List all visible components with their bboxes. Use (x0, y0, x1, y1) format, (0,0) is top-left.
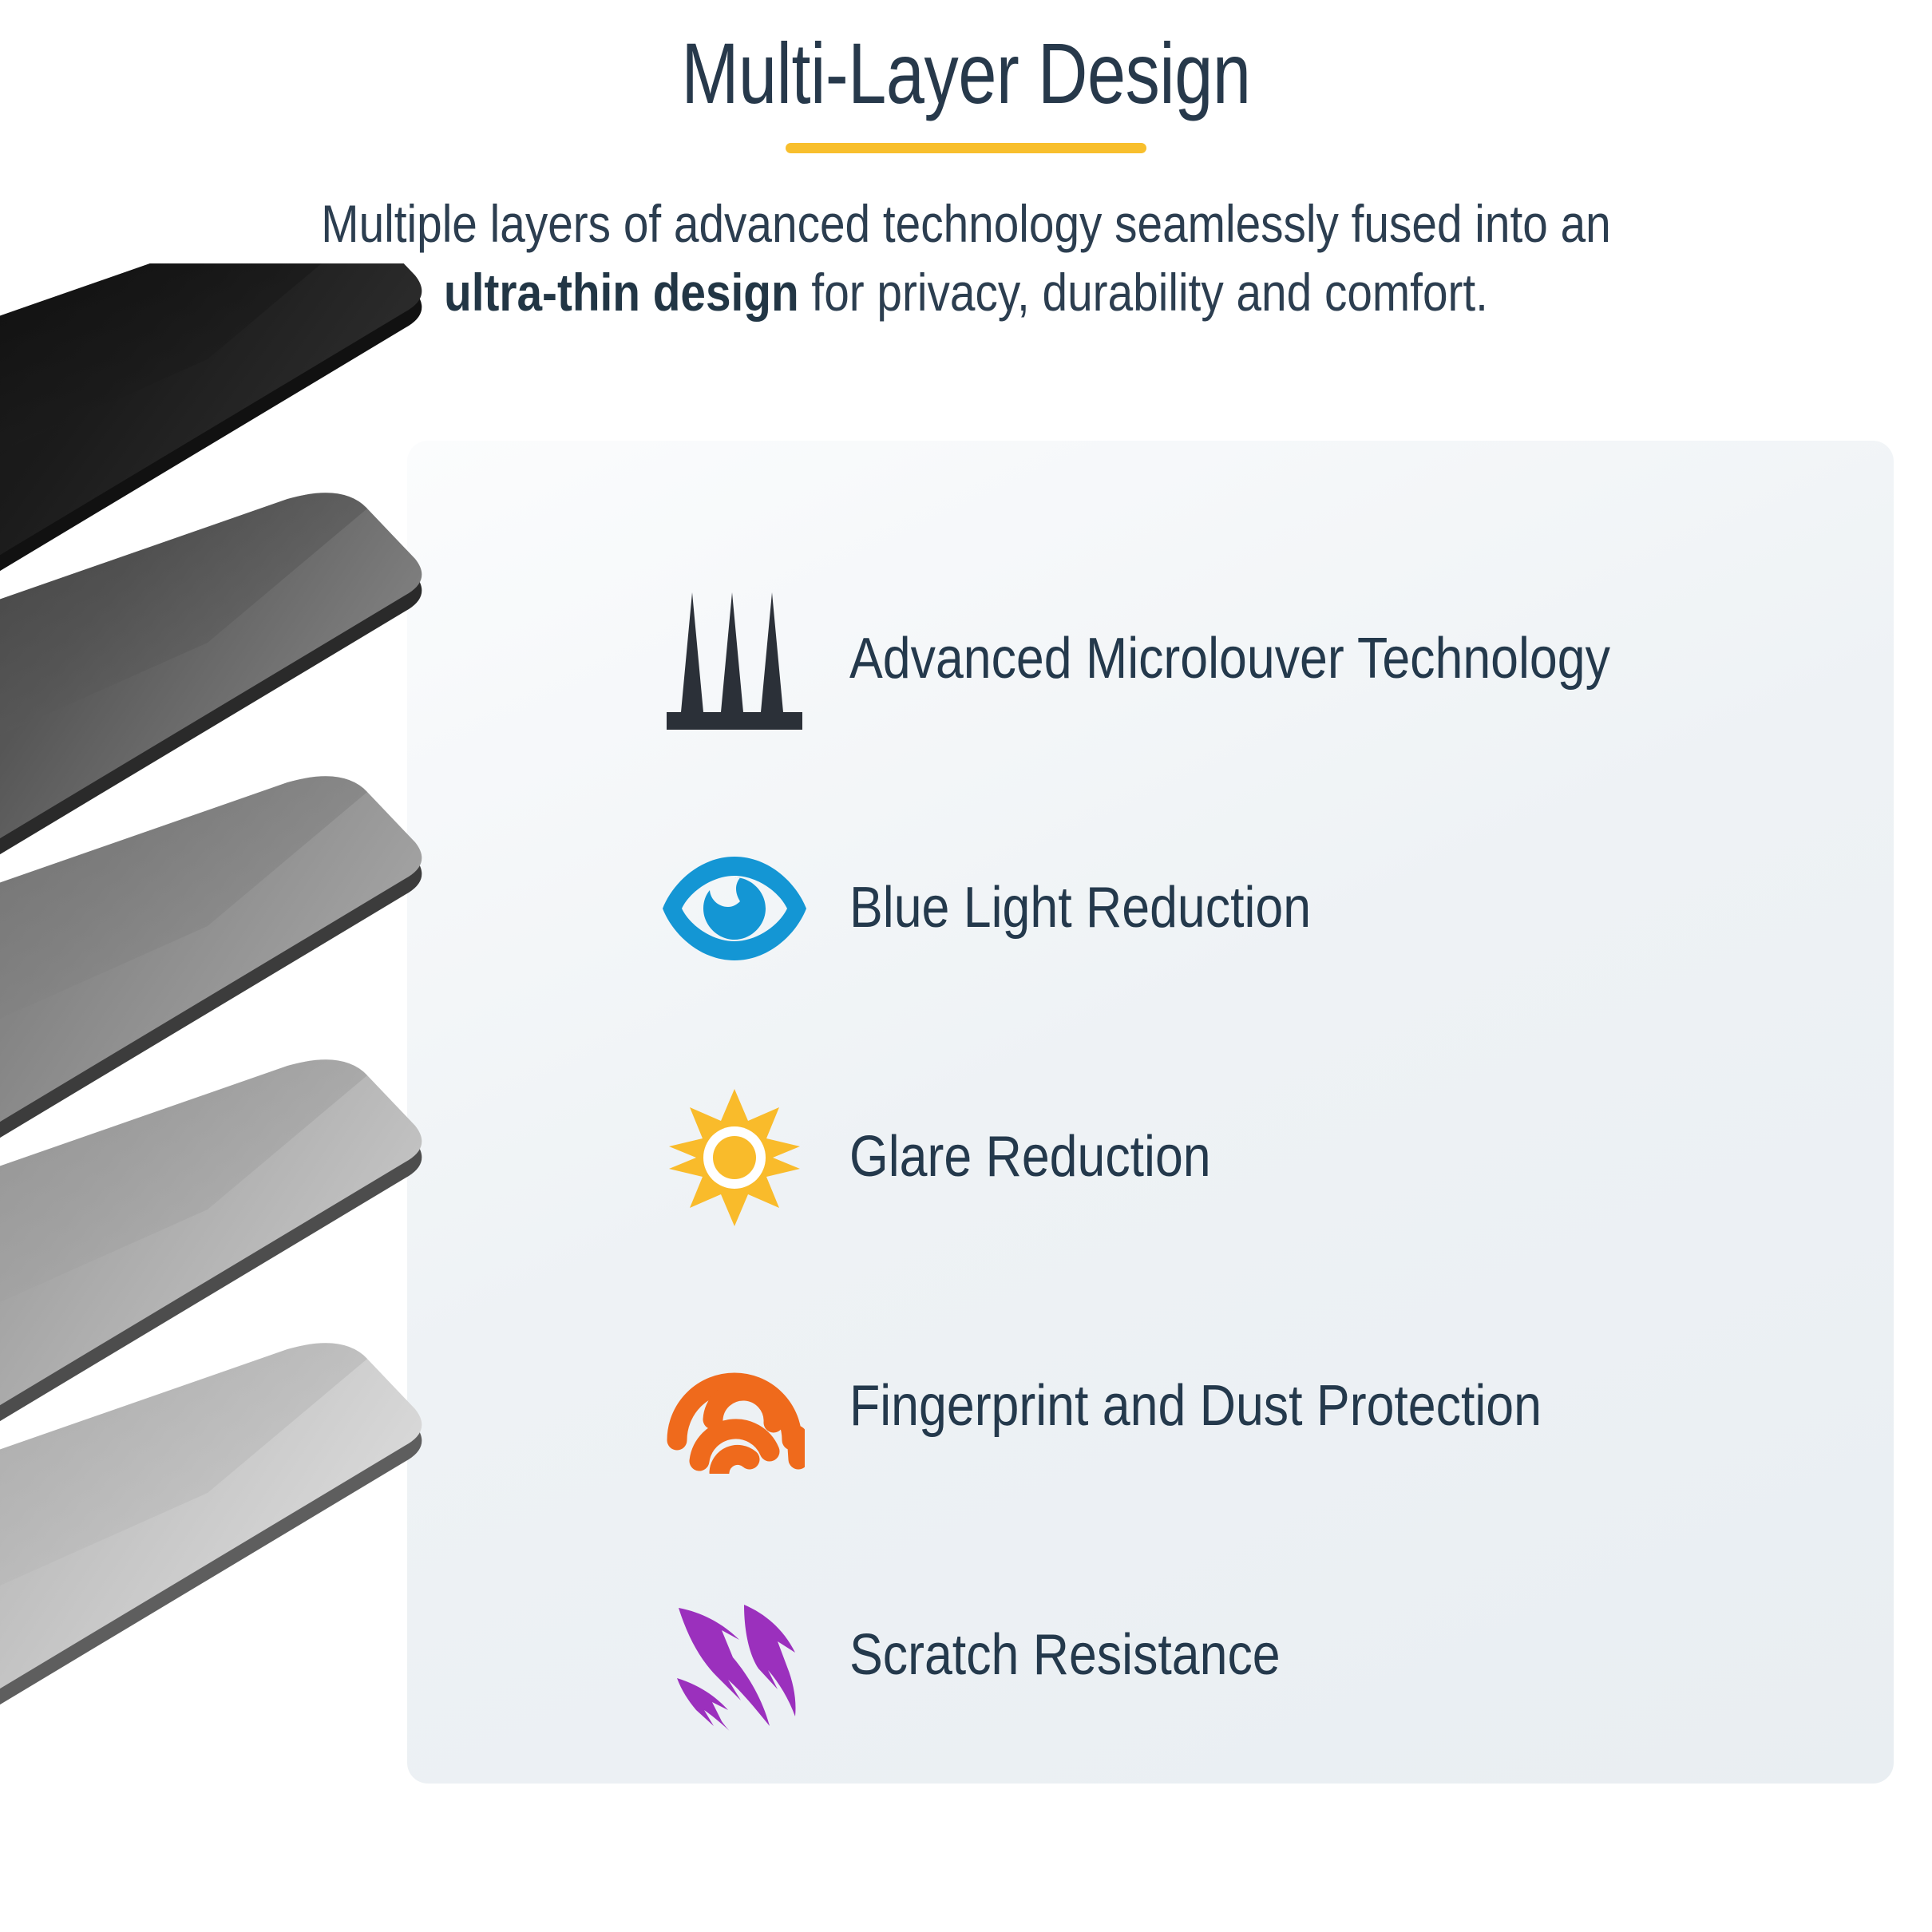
microlouver-icon (655, 580, 814, 739)
feature-label-fingerprint: Fingerprint and Dust Protection (849, 1375, 1542, 1438)
fingerprint-icon (655, 1327, 814, 1487)
feature-row-blue-light: Blue Light Reduction (655, 784, 1900, 1033)
feature-row-scratch: Scratch Resistance (655, 1531, 1900, 1780)
infographic-canvas: Multi-Layer Design Multiple layers of ad… (0, 0, 1932, 1932)
sun-icon (655, 1078, 814, 1237)
feature-label-blue-light: Blue Light Reduction (849, 877, 1311, 940)
page-title: Multi-Layer Design (193, 0, 1739, 124)
feature-row-microlouver: Advanced Microlouver Technology (655, 535, 1900, 784)
multi-layer-sheet-stack-graphic (0, 263, 687, 1844)
title-underline-rule (786, 143, 1146, 153)
header: Multi-Layer Design Multiple layers of ad… (0, 0, 1932, 327)
feature-label-microlouver: Advanced Microlouver Technology (849, 628, 1610, 691)
sheet-layer-5 (0, 1343, 422, 1844)
feature-list: Advanced Microlouver Technology Blue Lig… (655, 535, 1900, 1780)
eye-icon (655, 829, 814, 988)
feature-row-fingerprint: Fingerprint and Dust Protection (655, 1282, 1900, 1531)
feature-label-scratch: Scratch Resistance (849, 1624, 1281, 1687)
page-subtitle: Multiple layers of advanced technology s… (276, 190, 1657, 327)
scratch-icon (655, 1576, 814, 1736)
feature-label-glare: Glare Reduction (849, 1126, 1211, 1189)
feature-row-glare: Glare Reduction (655, 1033, 1900, 1282)
subtitle-line-2-rest: for privacy, durability and comfort. (799, 263, 1488, 322)
subtitle-emphasis: ultra-thin design (444, 263, 799, 322)
subtitle-line-1: Multiple layers of advanced technology s… (321, 194, 1610, 253)
